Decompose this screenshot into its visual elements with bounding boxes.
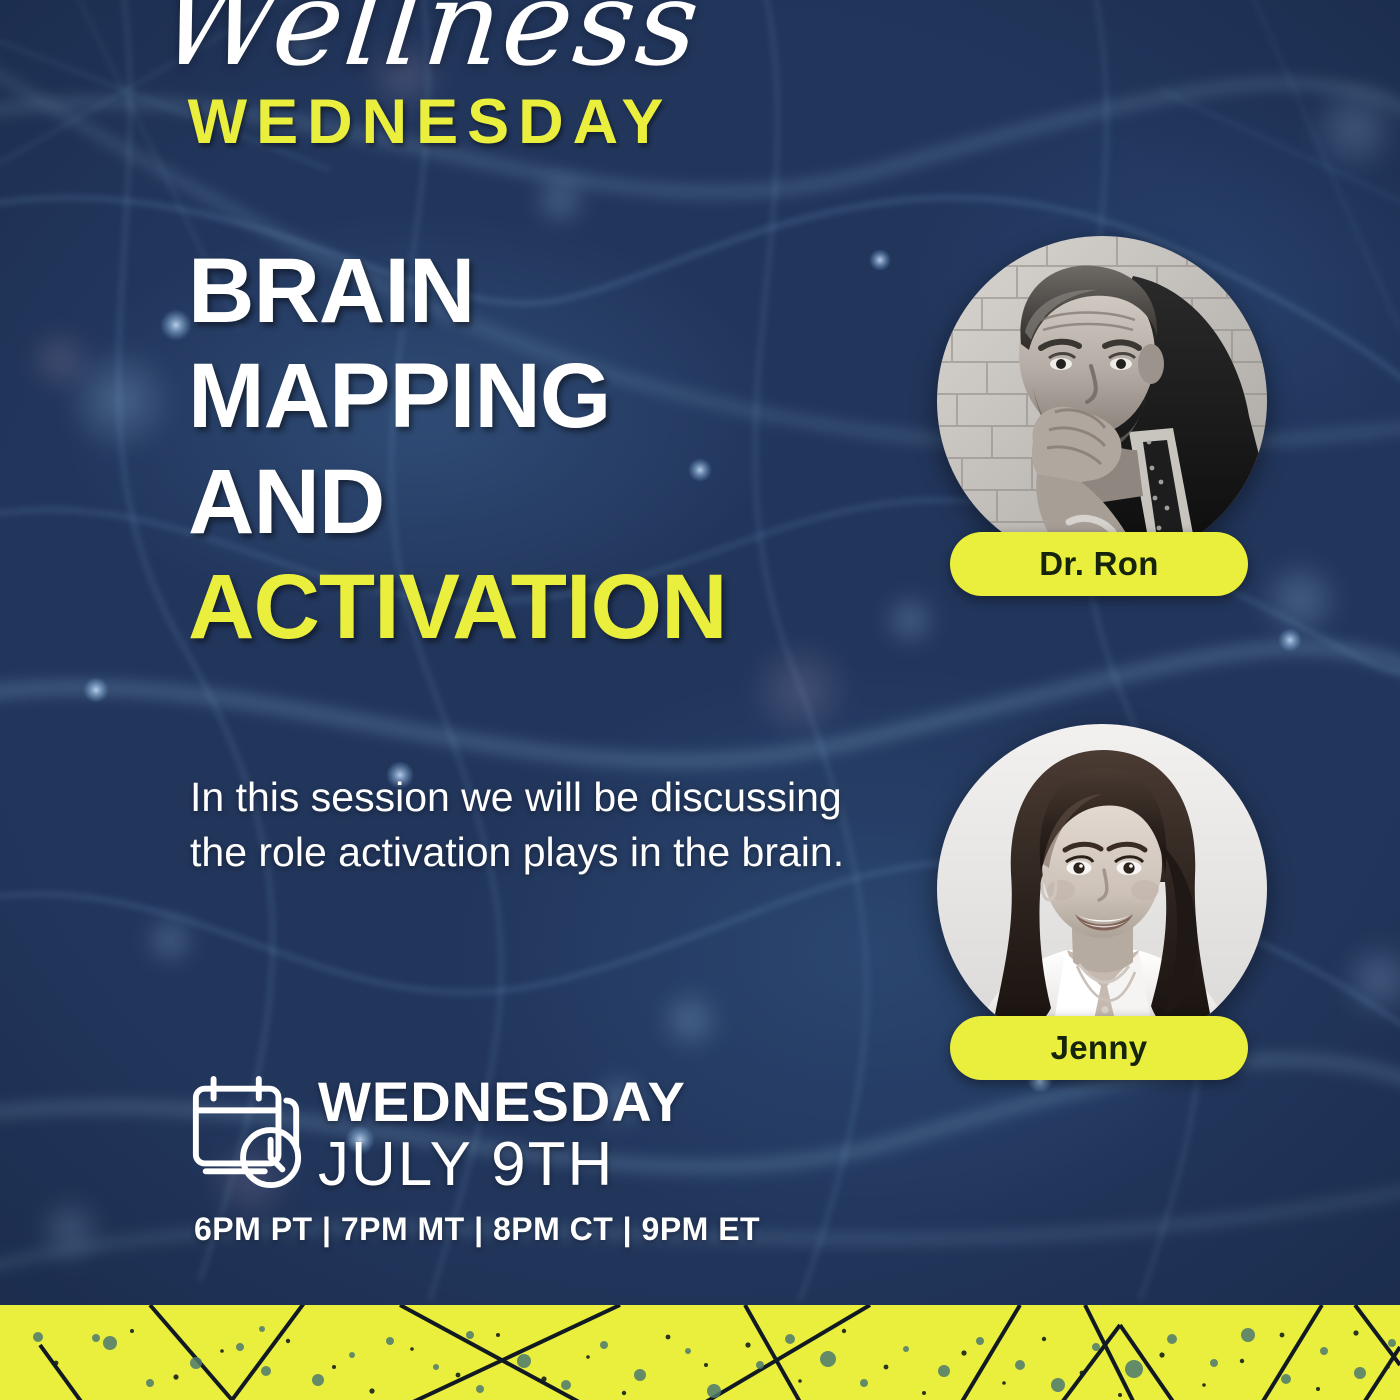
title-line-1: BRAIN (188, 248, 888, 335)
footer-pattern-band (0, 1305, 1400, 1400)
event-date: JULY 9TH (318, 1132, 686, 1199)
speaker-name-badge-2: Jenny (950, 1016, 1248, 1080)
header-day-label: WEDNESDAY (0, 86, 860, 158)
title-line-3: AND (188, 459, 888, 546)
script-title: Wellness (0, 0, 867, 92)
calendar-clock-icon (188, 1072, 306, 1192)
page-title: BRAIN MAPPING AND ACTIVATION (188, 248, 888, 652)
speaker-name-badge-1: Dr. Ron (950, 532, 1248, 596)
speaker-card-1: Dr. Ron (932, 236, 1272, 566)
wellness-wednesday-flyer: Wellness WEDNESDAY BRAIN MAPPING AND ACT… (0, 0, 1400, 1400)
speaker-photo-jenny (937, 724, 1267, 1054)
speaker-card-2: Jenny (932, 724, 1272, 1054)
title-line-2: MAPPING (188, 353, 888, 440)
speaker-photo-dr-ron (937, 236, 1267, 566)
title-line-4: ACTIVATION (188, 564, 888, 651)
session-description: In this session we will be discussing th… (190, 770, 870, 879)
event-timezones: 6PM PT | 7PM MT | 8PM CT | 9PM ET (194, 1211, 908, 1248)
event-date-block: WEDNESDAY JULY 9TH 6PM PT | 7PM MT | 8PM… (188, 1068, 908, 1248)
event-weekday: WEDNESDAY (318, 1074, 686, 1130)
